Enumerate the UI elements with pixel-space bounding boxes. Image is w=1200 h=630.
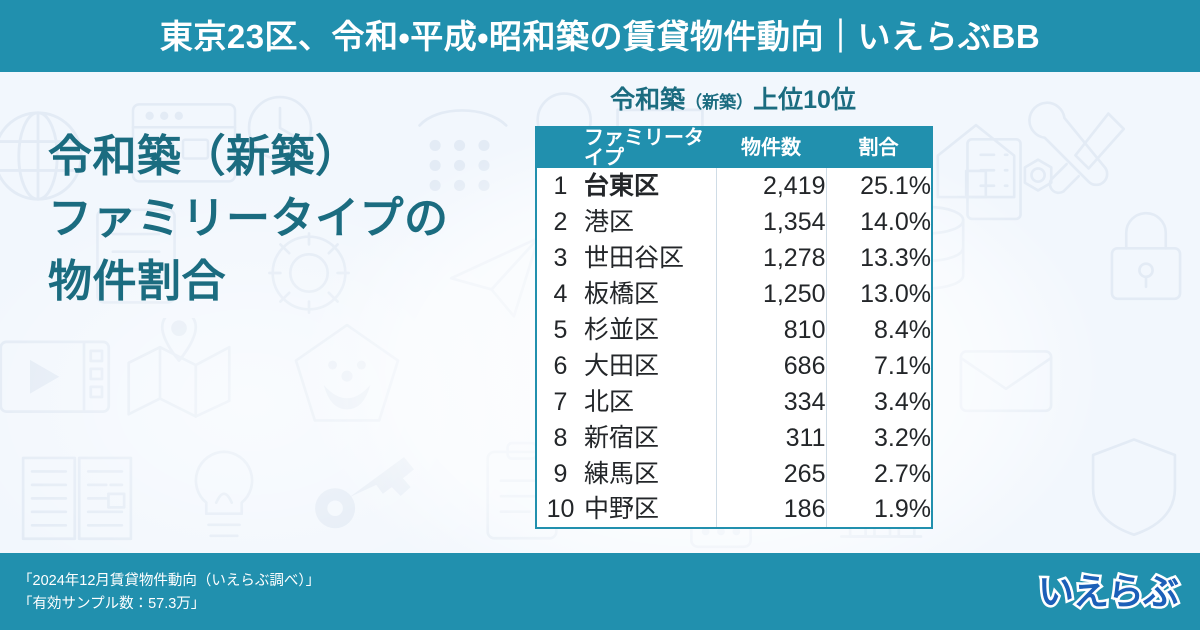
- envelope-icon: [952, 336, 1060, 424]
- headline-line-3: 物件割合: [48, 251, 449, 313]
- cell-count: 2,419: [716, 168, 826, 204]
- tools-icon: [1022, 96, 1142, 208]
- cell-share: 25.1%: [826, 168, 932, 204]
- table-row: 10 中野区 186 1.9%: [536, 492, 932, 528]
- cell-rank: 8: [536, 420, 584, 456]
- ranking-table-block: 令和築（新築）上位10位 ファミリータイプ 物件数 割合 1 台東区 2,419…: [535, 88, 931, 529]
- table-row: 4 板橋区 1,250 13.0%: [536, 276, 932, 312]
- padlock-icon: [1092, 200, 1200, 312]
- table-row: 6 大田区 686 7.1%: [536, 348, 932, 384]
- cell-share: 8.4%: [826, 312, 932, 348]
- cell-rank: 4: [536, 276, 584, 312]
- cell-count: 686: [716, 348, 826, 384]
- table-title-tail: 上位10位: [753, 86, 856, 114]
- cell-share: 14.0%: [826, 204, 932, 240]
- table-head: ファミリータイプ 物件数 割合: [536, 127, 932, 168]
- headline-line-1: 令和築（新築）: [48, 126, 449, 188]
- cell-count: 810: [716, 312, 826, 348]
- cell-count: 1,250: [716, 276, 826, 312]
- key-icon: [308, 446, 420, 546]
- cell-share: 13.3%: [826, 240, 932, 276]
- cell-name: 練馬区: [584, 456, 716, 492]
- video-icon: [0, 326, 120, 432]
- cell-name: 大田区: [584, 348, 716, 384]
- table-row: 3 世田谷区 1,278 13.3%: [536, 240, 932, 276]
- map-pin-icon: [122, 318, 236, 430]
- table-title: 令和築（新築）上位10位: [535, 88, 931, 113]
- cell-rank: 6: [536, 348, 584, 384]
- building-icon: [952, 128, 1036, 228]
- cell-share: 7.1%: [826, 348, 932, 384]
- cell-name: 世田谷区: [584, 240, 716, 276]
- cell-rank: 1: [536, 168, 584, 204]
- footer-note-sample: 「有効サンプル数：57.3万」: [18, 593, 320, 616]
- column-header-count: 物件数: [716, 127, 826, 168]
- column-header-rank: [536, 127, 584, 168]
- table-body: 1 台東区 2,419 25.1% 2 港区 1,354 14.0% 3 世田谷…: [536, 168, 932, 528]
- cell-rank: 5: [536, 312, 584, 348]
- column-header-name: ファミリータイプ: [584, 127, 716, 168]
- table-row: 9 練馬区 265 2.7%: [536, 456, 932, 492]
- cell-name: 港区: [584, 204, 716, 240]
- header-bar: 東京23区、令和・平成・昭和築の賃貸物件動向｜いえらぶBB: [0, 0, 1200, 72]
- cell-share: 2.7%: [826, 456, 932, 492]
- table-row: 1 台東区 2,419 25.1%: [536, 168, 932, 204]
- ranking-table: ファミリータイプ 物件数 割合 1 台東区 2,419 25.1% 2 港区 1…: [535, 126, 933, 529]
- cell-share: 3.4%: [826, 384, 932, 420]
- shield-icon: [1082, 430, 1186, 542]
- cell-count: 334: [716, 384, 826, 420]
- footer-notes: 「2024年12月賃貸物件動向（いえらぶ調べ）」 「有効サンプル数：57.3万」: [18, 570, 320, 617]
- cell-name: 杉並区: [584, 312, 716, 348]
- table-row: 7 北区 334 3.4%: [536, 384, 932, 420]
- cell-share: 1.9%: [826, 492, 932, 528]
- cell-rank: 3: [536, 240, 584, 276]
- cell-share: 13.0%: [826, 276, 932, 312]
- brand-logo-text: いえらぶ: [1038, 574, 1178, 610]
- headline-line-2: ファミリータイプの: [48, 188, 449, 250]
- table-row: 2 港区 1,354 14.0%: [536, 204, 932, 240]
- table-row: 5 杉並区 810 8.4%: [536, 312, 932, 348]
- table-row: 8 新宿区 311 3.2%: [536, 420, 932, 456]
- infographic-canvas: 東京23区、令和・平成・昭和築の賃貸物件動向｜いえらぶBB 令和築（新築） ファ…: [0, 0, 1200, 630]
- brand-logo[interactable]: いえらぶ: [1038, 574, 1178, 610]
- cell-count: 1,354: [716, 204, 826, 240]
- table-title-main: 令和築: [610, 86, 685, 114]
- headline: 令和築（新築） ファミリータイプの 物件割合: [48, 126, 449, 313]
- cell-count: 1,278: [716, 240, 826, 276]
- cell-rank: 10: [536, 492, 584, 528]
- column-header-share: 割合: [826, 127, 932, 168]
- cell-count: 186: [716, 492, 826, 528]
- house-icon: [926, 112, 1026, 208]
- newspaper-icon: [14, 440, 140, 550]
- cell-rank: 9: [536, 456, 584, 492]
- cell-name: 北区: [584, 384, 716, 420]
- cell-name: 板橋区: [584, 276, 716, 312]
- footer-bar: 「2024年12月賃貸物件動向（いえらぶ調べ）」 「有効サンプル数：57.3万」…: [0, 553, 1200, 630]
- mascot-icon: [286, 316, 408, 434]
- cell-rank: 2: [536, 204, 584, 240]
- cell-count: 311: [716, 420, 826, 456]
- cell-name: 台東区: [584, 168, 716, 204]
- page-title: 東京23区、令和・平成・昭和築の賃貸物件動向｜いえらぶBB: [160, 20, 1040, 53]
- lightbulb-icon: [172, 440, 276, 552]
- cell-name: 中野区: [584, 492, 716, 528]
- cell-name: 新宿区: [584, 420, 716, 456]
- cell-rank: 7: [536, 384, 584, 420]
- cell-share: 3.2%: [826, 420, 932, 456]
- table-title-small: （新築）: [685, 93, 753, 112]
- table-header-row: ファミリータイプ 物件数 割合: [536, 127, 932, 168]
- cell-count: 265: [716, 456, 826, 492]
- footer-note-source: 「2024年12月賃貸物件動向（いえらぶ調べ）」: [18, 570, 320, 593]
